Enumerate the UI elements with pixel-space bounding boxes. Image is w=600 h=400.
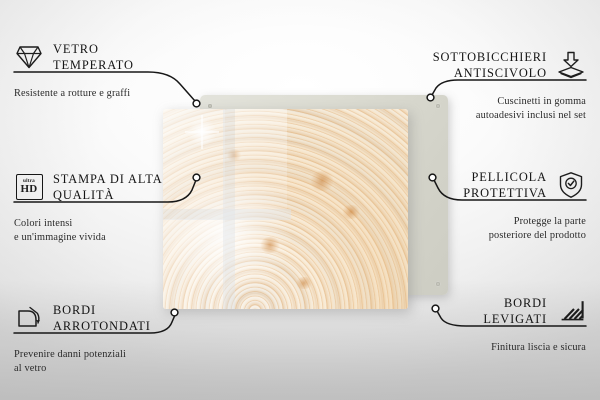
callout-header: ultra HD STAMPA DI ALTA QUALITÀ	[14, 166, 224, 208]
wood-knot	[341, 205, 361, 219]
title-line-1: VETRO	[53, 41, 134, 57]
subtitle-line-2: al vetro	[14, 362, 224, 376]
callout-header: BORDI ARROTONDATI	[14, 297, 224, 339]
shield-check-icon	[556, 170, 586, 200]
callout-bordi-arrotondati[interactable]: BORDI ARROTONDATI Prevenire danni potenz…	[14, 297, 224, 376]
title-line-1: BORDI	[483, 295, 547, 311]
callout-title: VETRO TEMPERATO	[53, 41, 134, 74]
title-line-1: STAMPA DI ALTA	[53, 171, 163, 187]
title-line-1: BORDI	[53, 302, 151, 318]
callout-vetro-temperato[interactable]: VETRO TEMPERATO Resistente a rotture e g…	[14, 36, 224, 101]
title-line-1: SOTTOBICCHIERI	[433, 49, 547, 65]
title-line-2: ARROTONDATI	[53, 318, 151, 334]
wood-knot	[309, 171, 335, 191]
callout-title: BORDI LEVIGATI	[483, 295, 547, 328]
subtitle-line-1: Finitura liscia e sicura	[376, 341, 586, 355]
rubber-pad	[436, 282, 440, 286]
callout-bordi-levigati[interactable]: BORDI LEVIGATI Finitura liscia e sicura	[376, 290, 586, 355]
ultra-hd-icon: ultra HD	[14, 172, 44, 202]
ultra-hd-large-text: HD	[20, 184, 37, 195]
callout-subtitle: Finitura liscia e sicura	[376, 341, 586, 355]
callout-title: BORDI ARROTONDATI	[53, 302, 151, 335]
arrow-down-pad-icon	[556, 50, 586, 80]
wood-knot	[295, 277, 313, 289]
diamond-icon	[14, 42, 44, 72]
callout-title: STAMPA DI ALTA QUALITÀ	[53, 171, 163, 204]
subtitle-line-1: Protegge la parte	[376, 215, 586, 229]
subtitle-line-1: Cuscinetti in gomma	[376, 95, 586, 109]
callout-header: PELLICOLA PROTETTIVA	[376, 164, 586, 206]
callout-subtitle: Resistente a rotture e graffi	[14, 87, 224, 101]
subtitle-line-1: Colori intensi	[14, 217, 224, 231]
callout-header: SOTTOBICCHIERI ANTISCIVOLO	[376, 44, 586, 86]
product-feature-infographic: VETRO TEMPERATO Resistente a rotture e g…	[0, 0, 600, 400]
callout-subtitle: Colori intensi e un'immagine vivida	[14, 217, 224, 245]
subtitle-line-2: e un'immagine vivida	[14, 231, 224, 245]
callout-subtitle: Cuscinetti in gomma autoadesivi inclusi …	[376, 95, 586, 123]
title-line-2: LEVIGATI	[483, 311, 547, 327]
callout-header: BORDI LEVIGATI	[376, 290, 586, 332]
wood-knot	[259, 237, 281, 253]
title-line-2: PROTETTIVA	[463, 185, 547, 201]
rubber-pad	[208, 104, 212, 108]
wood-knot	[226, 149, 242, 161]
title-line-2: QUALITÀ	[53, 187, 163, 203]
title-line-1: PELLICOLA	[463, 169, 547, 185]
callout-subtitle: Protegge la parte posteriore del prodott…	[376, 215, 586, 243]
subtitle-line-1: Prevenire danni potenziali	[14, 348, 224, 362]
callout-header: VETRO TEMPERATO	[14, 36, 224, 78]
callout-stampa-alta-qualita[interactable]: ultra HD STAMPA DI ALTA QUALITÀ Colori i…	[14, 166, 224, 245]
callout-title: SOTTOBICCHIERI ANTISCIVOLO	[433, 49, 547, 82]
subtitle-line-1: Resistente a rotture e graffi	[14, 87, 224, 101]
title-line-2: ANTISCIVOLO	[433, 65, 547, 81]
rounded-corner-icon	[14, 303, 44, 333]
callout-title: PELLICOLA PROTETTIVA	[463, 169, 547, 202]
subtitle-line-2: autoadesivi inclusi nel set	[376, 109, 586, 123]
callout-pellicola-protettiva[interactable]: PELLICOLA PROTETTIVA Protegge la parte p…	[376, 164, 586, 243]
callout-subtitle: Prevenire danni potenziali al vetro	[14, 348, 224, 376]
hatched-triangle-icon	[556, 296, 586, 326]
subtitle-line-2: posteriore del prodotto	[376, 229, 586, 243]
title-line-2: TEMPERATO	[53, 57, 134, 73]
callout-sottobicchieri-antiscivolo[interactable]: SOTTOBICCHIERI ANTISCIVOLO Cuscinetti in…	[376, 44, 586, 123]
